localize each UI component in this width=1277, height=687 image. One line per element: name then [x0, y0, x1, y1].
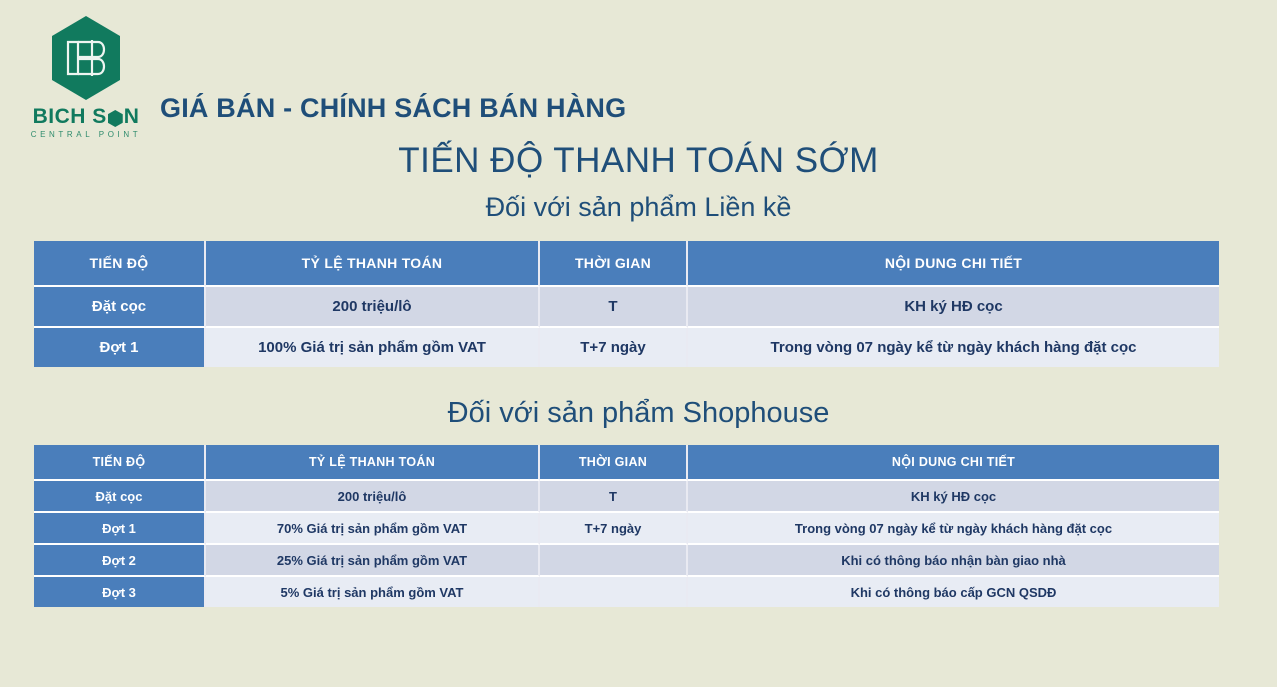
cell-ratio: 100% Giá trị sản phẩm gồm VAT	[206, 328, 540, 367]
brand-wordmark: BICH S N	[18, 106, 154, 127]
cell-stage: Đợt 2	[34, 545, 206, 577]
section-subtitle-lienke: Đối với sản phẩm Liền kề	[0, 192, 1277, 223]
cell-detail: Trong vòng 07 ngày kể từ ngày khách hàng…	[688, 513, 1219, 545]
brand-name-part2: N	[124, 106, 140, 127]
cell-ratio: 70% Giá trị sản phẩm gồm VAT	[206, 513, 540, 545]
table-row: Đặt cọc 200 triệu/lô T KH ký HĐ cọc	[34, 481, 1219, 513]
cell-detail: KH ký HĐ cọc	[688, 287, 1219, 328]
table-header-row: TIẾN ĐỘ TỶ LỆ THANH TOÁN THỜI GIAN NỘI D…	[34, 445, 1219, 481]
cell-stage: Đợt 1	[34, 328, 206, 367]
cell-time: T+7 ngày	[540, 328, 688, 367]
column-header-ratio: TỶ LỆ THANH TOÁN	[206, 241, 540, 287]
cell-stage: Đợt 1	[34, 513, 206, 545]
table-row: Đợt 2 25% Giá trị sản phẩm gồm VAT Khi c…	[34, 545, 1219, 577]
cell-time: T	[540, 481, 688, 513]
cell-ratio: 200 triệu/lô	[206, 481, 540, 513]
column-header-time: THỜI GIAN	[540, 445, 688, 481]
cell-detail: Khi có thông báo cấp GCN QSDĐ	[688, 577, 1219, 607]
cell-time	[540, 545, 688, 577]
cell-stage: Đặt cọc	[34, 481, 206, 513]
cell-detail: Khi có thông báo nhận bàn giao nhà	[688, 545, 1219, 577]
table-row: Đợt 1 70% Giá trị sản phẩm gồm VAT T+7 n…	[34, 513, 1219, 545]
cell-ratio: 200 triệu/lô	[206, 287, 540, 328]
cell-time: T	[540, 287, 688, 328]
table-header-row: TIẾN ĐỘ TỶ LỆ THANH TOÁN THỜI GIAN NỘI D…	[34, 241, 1219, 287]
brand-tagline: CENTRAL POINT	[18, 130, 154, 139]
table-row: Đặt cọc 200 triệu/lô T KH ký HĐ cọc	[34, 287, 1219, 328]
cell-stage: Đặt cọc	[34, 287, 206, 328]
cell-stage: Đợt 3	[34, 577, 206, 607]
brand-logo: BICH S N CENTRAL POINT	[18, 14, 154, 139]
cell-time	[540, 577, 688, 607]
hexagon-o-icon	[108, 110, 123, 127]
cell-detail: Trong vòng 07 ngày kể từ ngày khách hàng…	[688, 328, 1219, 367]
cell-time: T+7 ngày	[540, 513, 688, 545]
column-header-detail: NỘI DUNG CHI TIẾT	[688, 241, 1219, 287]
column-header-stage: TIẾN ĐỘ	[34, 445, 206, 481]
page-kicker-title: GIÁ BÁN - CHÍNH SÁCH BÁN HÀNG	[160, 93, 626, 124]
bich-son-hexagon-monogram-icon	[48, 14, 124, 102]
section-subtitle-shophouse: Đối với sản phẩm Shophouse	[0, 397, 1277, 430]
brand-name-part1: BICH S	[33, 106, 107, 127]
table-row: Đợt 1 100% Giá trị sản phẩm gồm VAT T+7 …	[34, 328, 1219, 367]
page-title: TIẾN ĐỘ THANH TOÁN SỚM	[0, 141, 1277, 181]
column-header-ratio: TỶ LỆ THANH TOÁN	[206, 445, 540, 481]
cell-ratio: 5% Giá trị sản phẩm gồm VAT	[206, 577, 540, 607]
column-header-time: THỜI GIAN	[540, 241, 688, 287]
cell-ratio: 25% Giá trị sản phẩm gồm VAT	[206, 545, 540, 577]
table-row: Đợt 3 5% Giá trị sản phẩm gồm VAT Khi có…	[34, 577, 1219, 607]
cell-detail: KH ký HĐ cọc	[688, 481, 1219, 513]
payment-schedule-table-lienke: TIẾN ĐỘ TỶ LỆ THANH TOÁN THỜI GIAN NỘI D…	[34, 241, 1219, 367]
payment-schedule-table-shophouse: TIẾN ĐỘ TỶ LỆ THANH TOÁN THỜI GIAN NỘI D…	[34, 445, 1219, 607]
column-header-stage: TIẾN ĐỘ	[34, 241, 206, 287]
column-header-detail: NỘI DUNG CHI TIẾT	[688, 445, 1219, 481]
